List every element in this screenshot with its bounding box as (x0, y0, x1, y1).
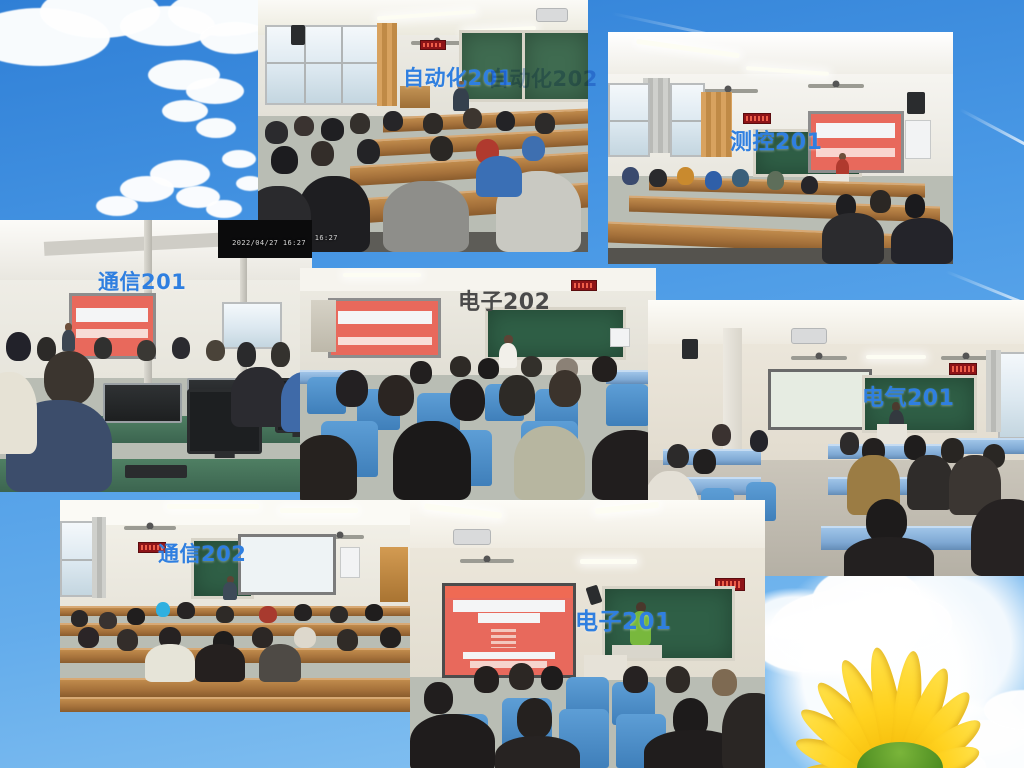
slide-content (241, 537, 333, 592)
cloud (196, 118, 236, 138)
student-body (844, 537, 934, 576)
slide-content (331, 301, 438, 354)
photo-scene (608, 32, 953, 264)
fan-hub (336, 531, 343, 538)
student-head (6, 332, 31, 362)
slide-title-line2 (478, 613, 539, 623)
student-head (509, 663, 534, 690)
photo-communication-201[interactable]: 2022/04/27 16:27 2022/04/27 16:27 (0, 220, 312, 492)
ceiling-fan (808, 78, 864, 90)
student-body (514, 426, 585, 500)
window (60, 521, 96, 597)
presenter (499, 335, 517, 367)
ceiling-fan (941, 350, 991, 362)
led-sign (138, 542, 166, 553)
fan-blade (819, 356, 847, 360)
student-head (767, 171, 784, 190)
window (265, 25, 381, 105)
slide-band (816, 148, 895, 157)
student-head (271, 146, 297, 174)
cloud (162, 100, 208, 122)
blackboard (459, 30, 528, 102)
student-head (463, 108, 483, 128)
ceiling-fan (124, 521, 176, 531)
window-mullion (267, 62, 379, 64)
wall-speaker (682, 339, 698, 359)
student-head (623, 666, 648, 693)
cloud (206, 200, 242, 218)
student-head (137, 340, 156, 362)
student-head (693, 449, 716, 474)
keyboard (125, 465, 187, 479)
ceiling-light (866, 355, 926, 359)
student-body (971, 499, 1024, 576)
projection-screen (238, 534, 336, 595)
student-head (357, 139, 380, 164)
ceiling (608, 32, 953, 74)
desk-row (60, 697, 415, 712)
window (670, 83, 705, 157)
fan-hub (146, 523, 153, 530)
student-head (712, 424, 731, 446)
student-head (350, 113, 370, 133)
photo-electronics-202[interactable] (300, 268, 656, 500)
student-head (649, 169, 666, 188)
student-head (380, 627, 401, 648)
student-head (321, 118, 344, 141)
equipment-case (103, 383, 182, 422)
ceiling (300, 268, 656, 291)
student-head (271, 342, 290, 366)
desk-row (629, 196, 940, 223)
wall-poster (905, 120, 931, 159)
student-head (450, 356, 471, 377)
student-head (71, 610, 89, 627)
student-body (722, 693, 765, 768)
curtain (377, 23, 397, 106)
window (222, 302, 282, 350)
student-head (117, 629, 138, 650)
student-head (337, 629, 358, 650)
podium (400, 86, 430, 109)
student-head (732, 169, 749, 188)
cloud (222, 150, 256, 168)
slide-header (445, 586, 573, 598)
student-head (430, 136, 453, 161)
slide-band (76, 308, 147, 321)
projection-screen[interactable] (442, 583, 576, 677)
student-head (677, 167, 694, 186)
student-head (206, 340, 225, 362)
ceiling-fan (791, 350, 847, 362)
person-body (499, 343, 517, 368)
presenter (630, 602, 651, 645)
person-body (630, 611, 651, 644)
ceiling-light (343, 273, 421, 277)
projection-screen (768, 369, 872, 430)
student-head (294, 116, 314, 136)
door (380, 547, 408, 602)
student-body (476, 156, 522, 196)
student-head (99, 612, 117, 629)
photo-scene (258, 0, 588, 252)
presenter (62, 323, 74, 350)
photo-automation[interactable]: 2022/04/27 16:27 (258, 0, 588, 252)
student-head (423, 113, 443, 133)
curtain (701, 92, 732, 157)
led-sign (571, 280, 597, 291)
student-head (265, 121, 288, 144)
student-body (383, 181, 469, 252)
student-head (541, 666, 562, 690)
projection-screen (328, 298, 441, 357)
photo-scene (0, 220, 312, 492)
curtain (92, 517, 106, 598)
student-head (378, 375, 414, 417)
fan-blade (340, 535, 364, 539)
student-head (474, 666, 499, 693)
fan-blade (836, 84, 864, 88)
photo-communication-202[interactable] (60, 500, 415, 712)
collage-canvas: 2022/04/27 16:27 自动化201 自动化202 (0, 0, 1024, 768)
student-head (522, 136, 545, 161)
student-head (78, 627, 99, 648)
student-body (300, 435, 357, 500)
student-head (156, 602, 170, 617)
student-head (801, 176, 818, 195)
chair (606, 384, 649, 426)
student-head (478, 358, 499, 379)
slide-graphic (491, 629, 517, 648)
person-body (223, 582, 237, 599)
slide-content (771, 372, 869, 427)
photo-scene (300, 268, 656, 500)
wall-speaker (907, 92, 925, 114)
ceiling-light (280, 508, 358, 513)
student-head (311, 141, 334, 166)
fan-hub (815, 352, 822, 359)
fan-blade (487, 559, 514, 563)
student-head (336, 370, 368, 407)
presenter (223, 576, 237, 599)
student-body (393, 421, 471, 500)
slide-subtitle (463, 652, 555, 660)
student-head (94, 337, 113, 359)
ceiling-light (580, 559, 637, 564)
student-head (840, 432, 859, 454)
student-body (495, 736, 580, 768)
presenter (453, 81, 470, 111)
student-head (259, 606, 277, 623)
fan-hub (963, 352, 970, 359)
projection-screen (808, 111, 904, 173)
student-body (231, 367, 287, 427)
student-head (549, 370, 581, 407)
student-head (216, 606, 234, 623)
student-body (822, 213, 884, 264)
student-head (622, 167, 639, 186)
window (998, 352, 1024, 439)
window-mullion (610, 120, 648, 122)
wall-poster (340, 547, 360, 579)
slide-band (338, 311, 432, 324)
student-head (592, 356, 617, 382)
student-head (330, 606, 348, 623)
student-body (195, 644, 245, 682)
student-head (521, 356, 542, 377)
person-body (62, 330, 74, 350)
ceiling-light (167, 504, 259, 509)
student-body (592, 430, 656, 500)
student-head (705, 171, 722, 190)
student-head (365, 604, 383, 621)
photo-scene (60, 500, 415, 712)
student-body (145, 644, 195, 682)
person-body (453, 88, 468, 110)
student-head (667, 444, 690, 469)
student-head (870, 190, 891, 213)
fan-blade (150, 526, 176, 530)
front-table (584, 655, 627, 679)
student-head (712, 669, 737, 696)
slide-title-line1 (453, 600, 565, 611)
student-head (127, 608, 145, 625)
student-head (750, 430, 769, 452)
wall-poster (610, 328, 630, 346)
student-body (410, 714, 495, 768)
curtain (986, 350, 1001, 433)
slide-band (338, 337, 432, 344)
window (608, 83, 650, 157)
student-head (172, 337, 191, 359)
fan-hub (483, 555, 490, 562)
student-head (666, 666, 691, 693)
student-body (0, 372, 37, 454)
student-head (499, 375, 535, 417)
projector (791, 328, 827, 344)
led-sign (420, 40, 446, 50)
student-head (410, 361, 431, 384)
led-sign (949, 363, 977, 375)
student-head (866, 499, 907, 543)
student-body (891, 218, 953, 264)
student-head (237, 342, 256, 366)
student-head (535, 113, 555, 133)
ceiling (648, 300, 1024, 344)
student-head (294, 604, 312, 621)
window-mullion (341, 27, 343, 103)
photo-timestamp-text: 2022/04/27 16:27 (232, 239, 306, 247)
student-head (905, 194, 926, 217)
blackboard (522, 30, 588, 102)
projector (453, 529, 491, 545)
slide-band (76, 329, 147, 337)
door (311, 300, 336, 351)
window-mullion (672, 120, 703, 122)
student-head (383, 111, 403, 131)
wall-speaker (291, 25, 305, 45)
photo-scene (410, 500, 765, 768)
photo-measurement[interactable] (608, 32, 953, 264)
led-sign (743, 113, 771, 124)
student-body (907, 455, 952, 510)
student-body (259, 644, 302, 682)
student-head (424, 682, 452, 714)
window-mullion (62, 559, 94, 561)
student-head (450, 379, 486, 421)
slide-band (816, 123, 895, 139)
student-head (44, 351, 94, 405)
photo-electronics-201[interactable] (410, 500, 765, 768)
cloud (96, 196, 138, 216)
fan-blade (728, 89, 758, 93)
fan-hub (833, 81, 840, 88)
ceiling-fan (460, 554, 514, 564)
student-head (496, 111, 516, 131)
student-head (517, 698, 553, 738)
student-head (177, 602, 195, 619)
sunflower (800, 640, 1000, 768)
projector (536, 8, 568, 22)
student-head (294, 627, 315, 648)
